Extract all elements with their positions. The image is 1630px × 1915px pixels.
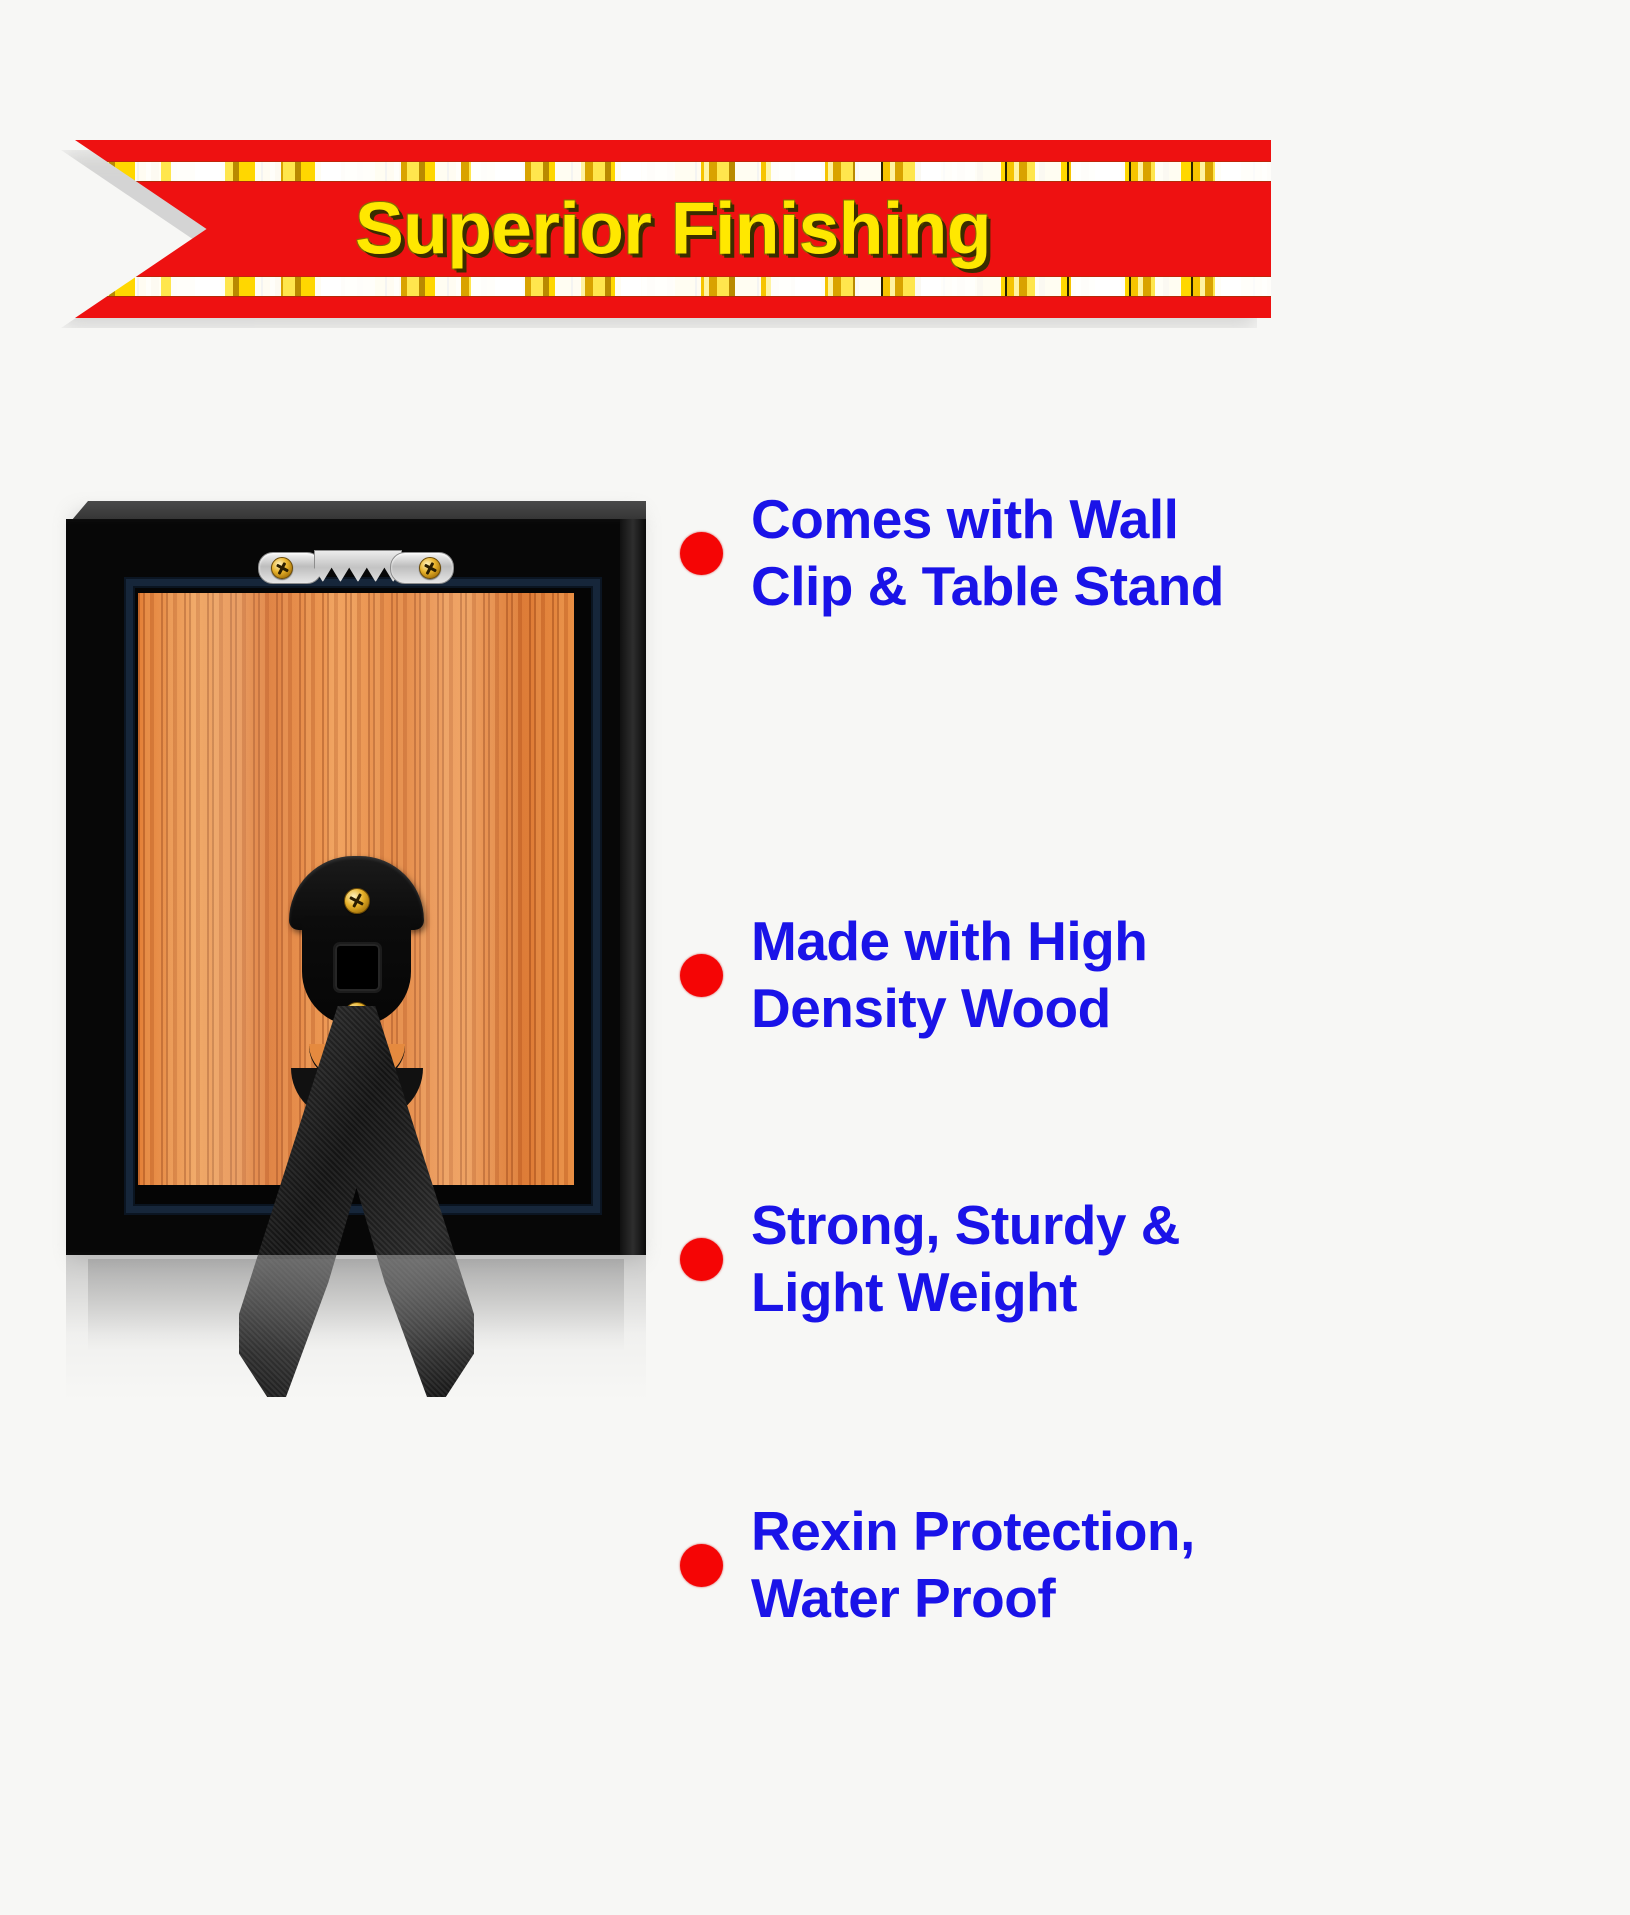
bullet-dot-icon [680,532,723,575]
feature-list: Comes with Wall Clip & Table Stand Made … [680,420,1580,1620]
product-reflection-frame [88,1259,624,1351]
hanger-sawtooth-strip [314,550,402,582]
bullet-dot-icon [680,1544,723,1587]
gold-stripe-bottom [75,277,1271,296]
infographic-canvas: Superior Finishing [0,0,1630,1915]
gold-stripe-top [75,162,1271,181]
stand-slot-window [335,944,380,991]
stand-screw-top-icon [344,888,370,914]
feature-text: Made with High Density Wood [751,908,1147,1042]
banner-title: Superior Finishing [75,188,1271,271]
sawtooth-hanger-icon [258,550,454,584]
hanger-screw-right-icon [419,557,441,579]
list-item: Rexin Protection, Water Proof [680,1498,1195,1632]
plaque-right-edge [620,519,646,1255]
list-item: Made with High Density Wood [680,908,1147,1042]
list-item: Strong, Sturdy & Light Weight [680,1192,1180,1326]
ribbon-body: Superior Finishing [75,140,1271,318]
bullet-dot-icon [680,1238,723,1281]
gold-stripe-bottom-sheen [75,277,1271,296]
hanger-screw-left-icon [271,557,293,579]
header-ribbon-banner: Superior Finishing [75,140,1271,318]
feature-text: Strong, Sturdy & Light Weight [751,1192,1180,1326]
product-photo [66,501,646,1401]
list-item: Comes with Wall Clip & Table Stand [680,486,1224,620]
feature-text: Rexin Protection, Water Proof [751,1498,1195,1632]
bullet-dot-icon [680,954,723,997]
gold-stripe-top-sheen [75,162,1271,181]
feature-text: Comes with Wall Clip & Table Stand [751,486,1224,620]
